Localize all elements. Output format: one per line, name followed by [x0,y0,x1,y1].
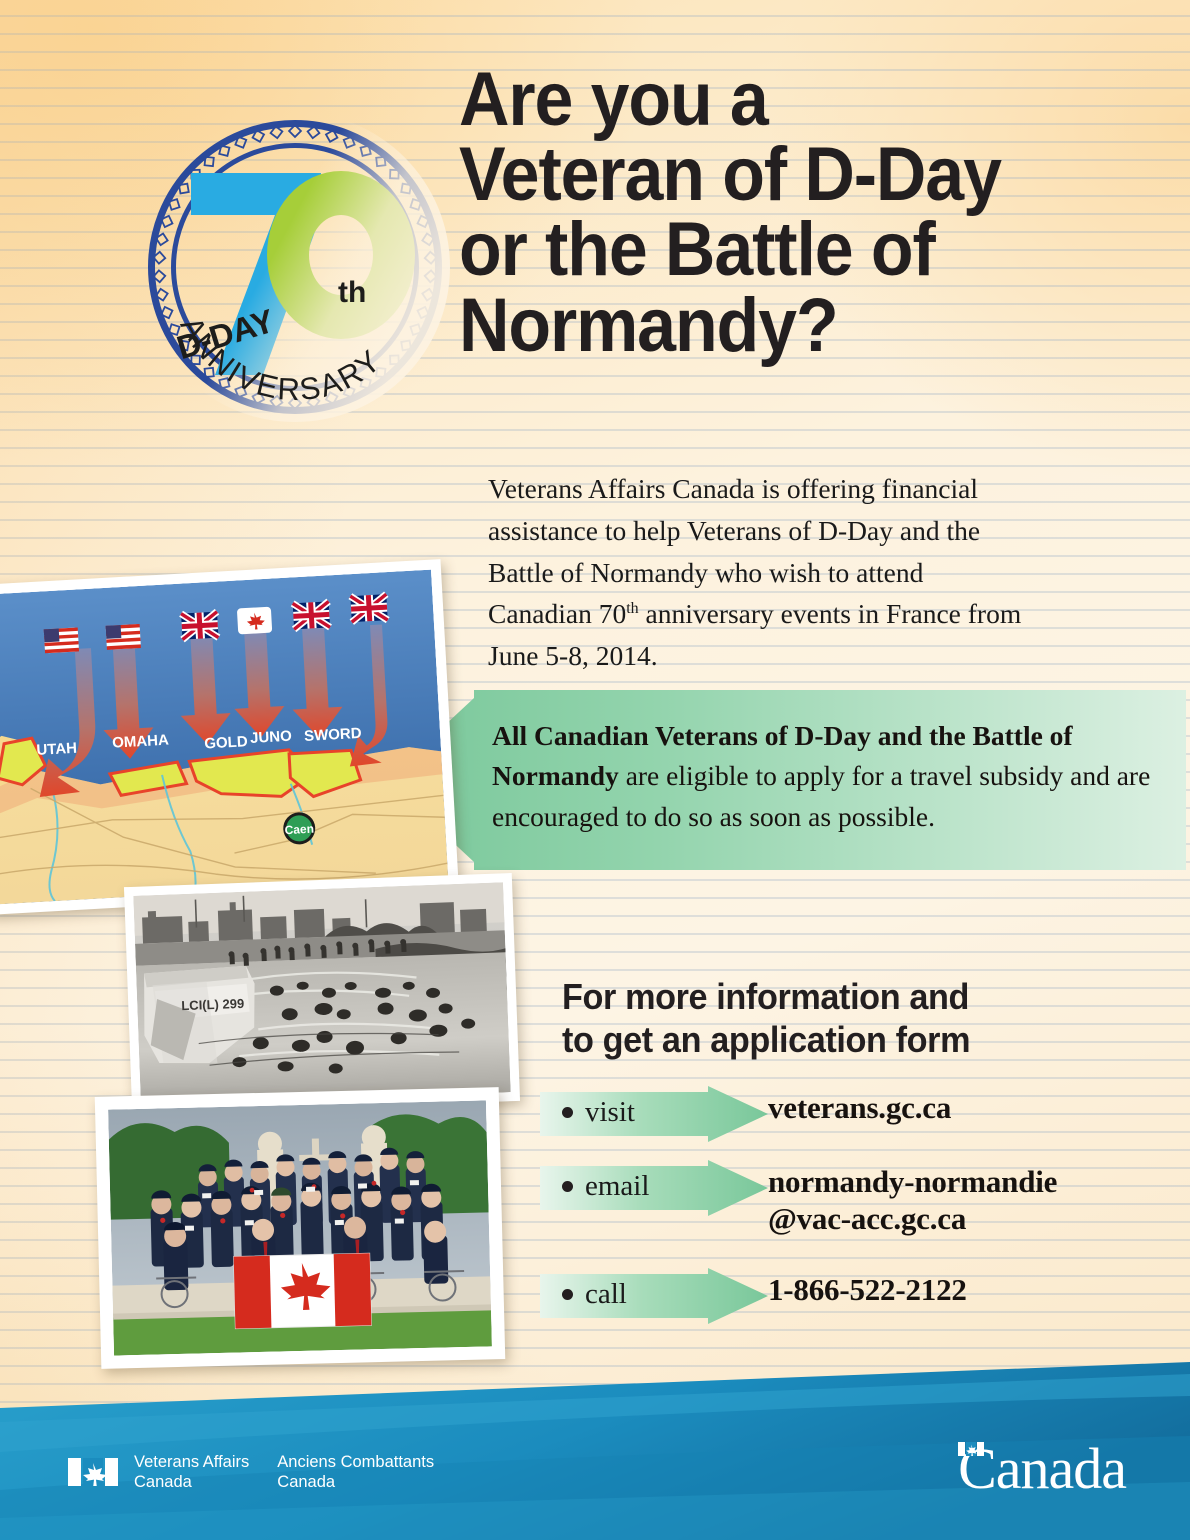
contact-label-call: call [562,1278,627,1311]
contact-label-email: email [562,1170,649,1203]
landing-beach-photo-graphic: LCI(L) 299 [133,882,510,1105]
dday-beaches-map-graphic: UTAH OMAHA GOLD JUNO SWORD Caen [0,570,448,905]
svg-text:Caen: Caen [284,822,314,838]
map-flag-uk-2 [293,601,330,629]
bullet-icon [562,1181,573,1192]
headline-line-1: Are you a [459,62,1103,137]
callout-text: All Canadian Veterans of D-Day and the B… [492,716,1182,837]
intro-paragraph: Veterans Affairs Canada is offering fina… [488,468,1033,677]
contact-title-line-2: to get an application form [562,1018,1056,1061]
map-flag-usa-1 [44,627,79,653]
map-beach-label-sword: SWORD [304,725,363,745]
canada-wordmark-flag-icon [958,1442,984,1456]
contact-row-email: email normandy-normandie @vac-acc.gc.ca [540,1160,1140,1268]
vac-name-fr-line2: Canada [277,1472,434,1492]
map-flag-uk-3 [350,594,387,622]
bullet-icon [562,1107,573,1118]
map-beach-label-gold: GOLD [204,733,248,752]
vac-name-fr-line1: Anciens Combattants [277,1452,434,1472]
svg-text:ANNIVERSARY: ANNIVERSARY [174,311,389,407]
contact-value-website[interactable]: veterans.gc.ca [768,1090,951,1127]
veterans-group-photo-graphic [108,1100,492,1355]
vac-name-en-line1: Veterans Affairs [134,1452,249,1472]
bullet-icon [562,1289,573,1300]
veterans-group-photo [95,1087,506,1369]
vac-signature: Veterans Affairs Canada Anciens Combatta… [68,1452,434,1492]
photo-image: UTAH OMAHA GOLD JUNO SWORD Caen [0,570,448,905]
canada-flag-icon [68,1458,118,1486]
map-flag-canada [237,607,272,635]
contact-title-line-1: For more information and [562,975,1056,1018]
eligibility-callout: All Canadian Veterans of D-Day and the B… [386,690,1186,870]
poster-root: D-DAY th ANNIVERSARY Are you a Veteran o… [0,0,1190,1540]
contact-rows: visit veterans.gc.ca email normandy-norm… [540,1086,1140,1342]
contact-label-visit: visit [562,1096,635,1129]
contact-value-email[interactable]: normandy-normandie @vac-acc.gc.ca [768,1164,1057,1237]
logo-anniversary-label: ANNIVERSARY [148,120,442,414]
vac-name-en: Veterans Affairs Canada [134,1452,249,1492]
page-title: Are you a Veteran of D-Day or the Battle… [459,62,1103,363]
vac-name-fr: Anciens Combattants Canada [277,1452,434,1492]
contact-label-text: visit [585,1096,635,1129]
dday-map-photo: UTAH OMAHA GOLD JUNO SWORD Caen [0,559,459,915]
normandy-landing-photo: LCI(L) 299 [124,873,520,1115]
footer: Veterans Affairs Canada Anciens Combatta… [0,1340,1190,1540]
vac-name-en-line2: Canada [134,1472,249,1492]
contact-row-visit: visit veterans.gc.ca [540,1086,1140,1160]
map-beach-label-utah: UTAH [36,740,77,759]
headline-line-3: or the Battle of [459,212,1103,287]
headline-line-2: Veteran of D-Day [459,137,1103,212]
contact-section-title: For more information and to get an appli… [562,975,1056,1061]
intro-ordinal-superscript: th [626,601,638,618]
photo-image: LCI(L) 299 [133,882,510,1105]
map-flag-usa-2 [106,624,141,650]
contact-row-call: call 1-866-522-2122 [540,1268,1140,1342]
contact-label-text: email [585,1170,649,1203]
map-flag-uk-1 [181,612,218,640]
map-beach-label-juno: JUNO [250,728,293,747]
contact-value-phone[interactable]: 1-866-522-2122 [768,1272,967,1309]
headline-line-4: Normandy? [459,288,1103,363]
canada-wordmark: Canada [958,1440,1126,1498]
dday-70th-anniversary-logo: D-DAY th ANNIVERSARY [140,98,450,446]
vac-department-names: Veterans Affairs Canada Anciens Combatta… [134,1452,434,1492]
map-beach-label-omaha: OMAHA [112,732,170,752]
contact-label-text: call [585,1278,627,1311]
svg-text:LCI(L) 299: LCI(L) 299 [181,996,244,1013]
canadian-flag-held [234,1253,372,1328]
photo-image [108,1100,492,1355]
